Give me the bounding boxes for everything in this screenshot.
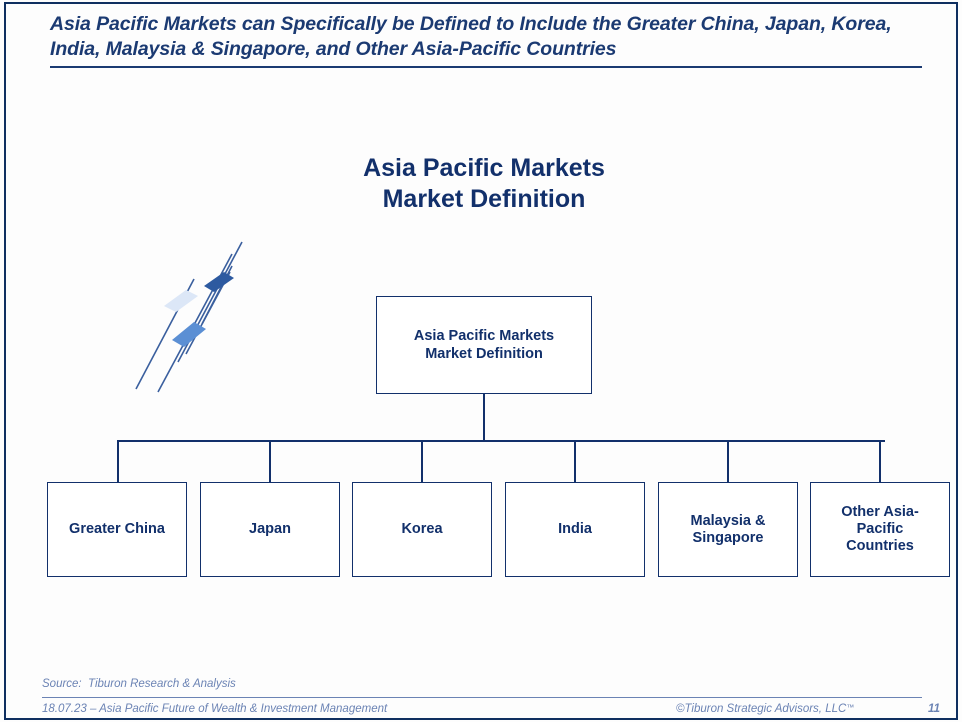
slide-border-right [956,2,958,720]
node-child-other-asia-pacific[interactable]: Other Asia- Pacific Countries [810,482,950,577]
deco-parallelogram-light [164,290,198,312]
page-number: 11 [918,703,940,715]
chart-heading-line2: Market Definition [281,184,687,215]
slide-border-bottom [4,718,958,720]
trademark-symbol: ™ [846,703,854,712]
connector-trunk [483,394,485,441]
node-child-label: Greater China [69,521,165,538]
footer-divider [42,697,922,698]
slide-canvas: Asia Pacific Markets can Specifically be… [0,0,962,722]
node-child-japan[interactable]: Japan [200,482,340,577]
connector-drop-2 [269,440,271,482]
node-child-greater-china[interactable]: Greater China [47,482,187,577]
connector-drop-6 [879,440,881,482]
node-child-korea[interactable]: Korea [352,482,492,577]
node-child-malaysia-singapore[interactable]: Malaysia & Singapore [658,482,798,577]
source-note: Source: Tiburon Research & Analysis [42,678,236,690]
slide-headline: Asia Pacific Markets can Specifically be… [50,12,922,62]
slide-border-top [4,2,958,4]
node-root-line2: Market Definition [414,345,554,363]
node-child-label: Malaysia & Singapore [691,513,766,547]
chart-heading-line1: Asia Pacific Markets [281,153,687,184]
connector-drop-1 [117,440,119,482]
node-child-label: India [558,521,592,538]
node-child-label: Japan [249,521,291,538]
connector-drop-5 [727,440,729,482]
deco-parallelogram-dark [204,272,234,292]
connector-bus [117,440,885,442]
connector-drop-3 [421,440,423,482]
connector-drop-4 [574,440,576,482]
node-child-india[interactable]: India [505,482,645,577]
chart-heading: Asia Pacific Markets Market Definition [281,153,687,215]
footer-copyright-text: ©Tiburon Strategic Advisors, LLC [676,703,846,715]
decorative-diagonal-mark [128,234,258,396]
footer-copyright: ©Tiburon Strategic Advisors, LLC™ [676,703,854,715]
node-root-line1: Asia Pacific Markets [414,327,554,345]
node-child-label: Other Asia- Pacific Countries [841,504,919,555]
node-root[interactable]: Asia Pacific Markets Market Definition [376,296,592,394]
headline-underline [50,66,922,68]
node-child-label: Korea [401,521,442,538]
slide-border-left [4,2,6,720]
footer-deck-title: 18.07.23 – Asia Pacific Future of Wealth… [42,703,387,715]
